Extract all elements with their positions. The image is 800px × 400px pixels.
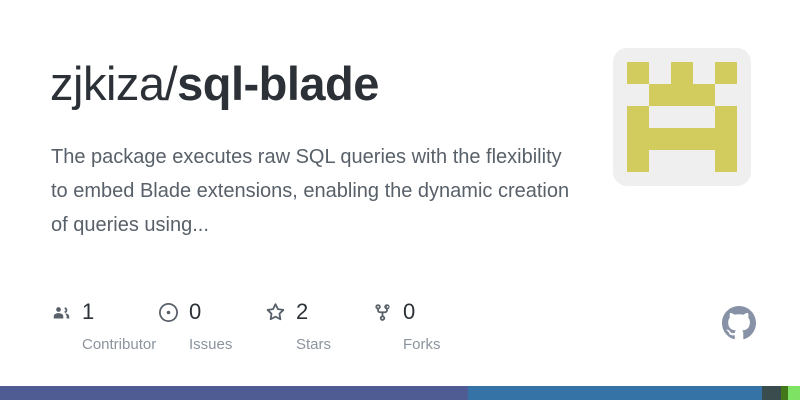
page-title: zjkiza/sql-blade <box>50 56 379 112</box>
identicon-cell-0-4 <box>715 62 737 84</box>
identicon-cell-2-4 <box>715 106 737 128</box>
identicon-cell-4-3 <box>693 150 715 172</box>
identicon-cell-2-0 <box>627 106 649 128</box>
github-mark-icon <box>722 306 756 340</box>
identicon-cell-3-0 <box>627 128 649 150</box>
identicon-cell-4-2 <box>671 150 693 172</box>
identicon-cell-4-4 <box>715 150 737 172</box>
language-segment-0 <box>0 386 468 400</box>
stat-stars-value: 2 <box>296 301 308 323</box>
language-bar <box>0 386 800 400</box>
stat-forks-value: 0 <box>403 301 415 323</box>
stat-forks-top: 0 <box>371 298 478 326</box>
repo-separator: / <box>165 57 178 110</box>
repo-stats: 1 Contributor 0 Issues <box>50 298 478 354</box>
repo-name: sql-blade <box>177 57 379 110</box>
fork-icon <box>371 301 393 323</box>
repo-owner: zjkiza <box>50 57 165 110</box>
people-icon <box>50 301 72 323</box>
stat-contributors-label: Contributor <box>82 336 157 354</box>
stat-contributors: 1 Contributor <box>50 298 157 354</box>
stat-contributors-value: 1 <box>82 301 94 323</box>
identicon-cell-2-3 <box>693 106 715 128</box>
identicon-cell-2-2 <box>671 106 693 128</box>
stat-forks: 0 Forks <box>371 298 478 354</box>
language-segment-1 <box>468 386 762 400</box>
identicon-cell-0-3 <box>693 62 715 84</box>
repo-description: The package executes raw SQL queries wit… <box>51 140 571 242</box>
stat-issues: 0 Issues <box>157 298 264 354</box>
identicon-cell-3-1 <box>649 128 671 150</box>
identicon-cell-2-1 <box>649 106 671 128</box>
repo-social-card: zjkiza/sql-blade The package executes ra… <box>0 0 800 400</box>
identicon-cell-3-3 <box>693 128 715 150</box>
stat-issues-label: Issues <box>189 336 264 354</box>
identicon-cell-1-3 <box>693 84 715 106</box>
language-segment-4 <box>788 386 800 400</box>
identicon-cell-1-2 <box>671 84 693 106</box>
identicon-cell-4-1 <box>649 150 671 172</box>
stat-issues-value: 0 <box>189 301 201 323</box>
stat-stars-top: 2 <box>264 298 371 326</box>
stat-issues-top: 0 <box>157 298 264 326</box>
identicon-cell-0-2 <box>671 62 693 84</box>
identicon-cell-1-4 <box>715 84 737 106</box>
identicon-cell-3-4 <box>715 128 737 150</box>
stat-forks-label: Forks <box>403 336 478 354</box>
identicon-cell-0-1 <box>649 62 671 84</box>
identicon-cell-3-2 <box>671 128 693 150</box>
identicon-cell-4-0 <box>627 150 649 172</box>
identicon-cell-1-1 <box>649 84 671 106</box>
identicon-cell-0-0 <box>627 62 649 84</box>
identicon-avatar <box>627 62 737 172</box>
stat-stars: 2 Stars <box>264 298 371 354</box>
identicon-cell-1-0 <box>627 84 649 106</box>
star-icon <box>264 301 286 323</box>
language-segment-3 <box>781 386 788 400</box>
stat-stars-label: Stars <box>296 336 371 354</box>
language-segment-2 <box>762 386 780 400</box>
avatar <box>613 48 751 186</box>
issue-opened-icon <box>157 301 179 323</box>
stat-contributors-top: 1 <box>50 298 157 326</box>
